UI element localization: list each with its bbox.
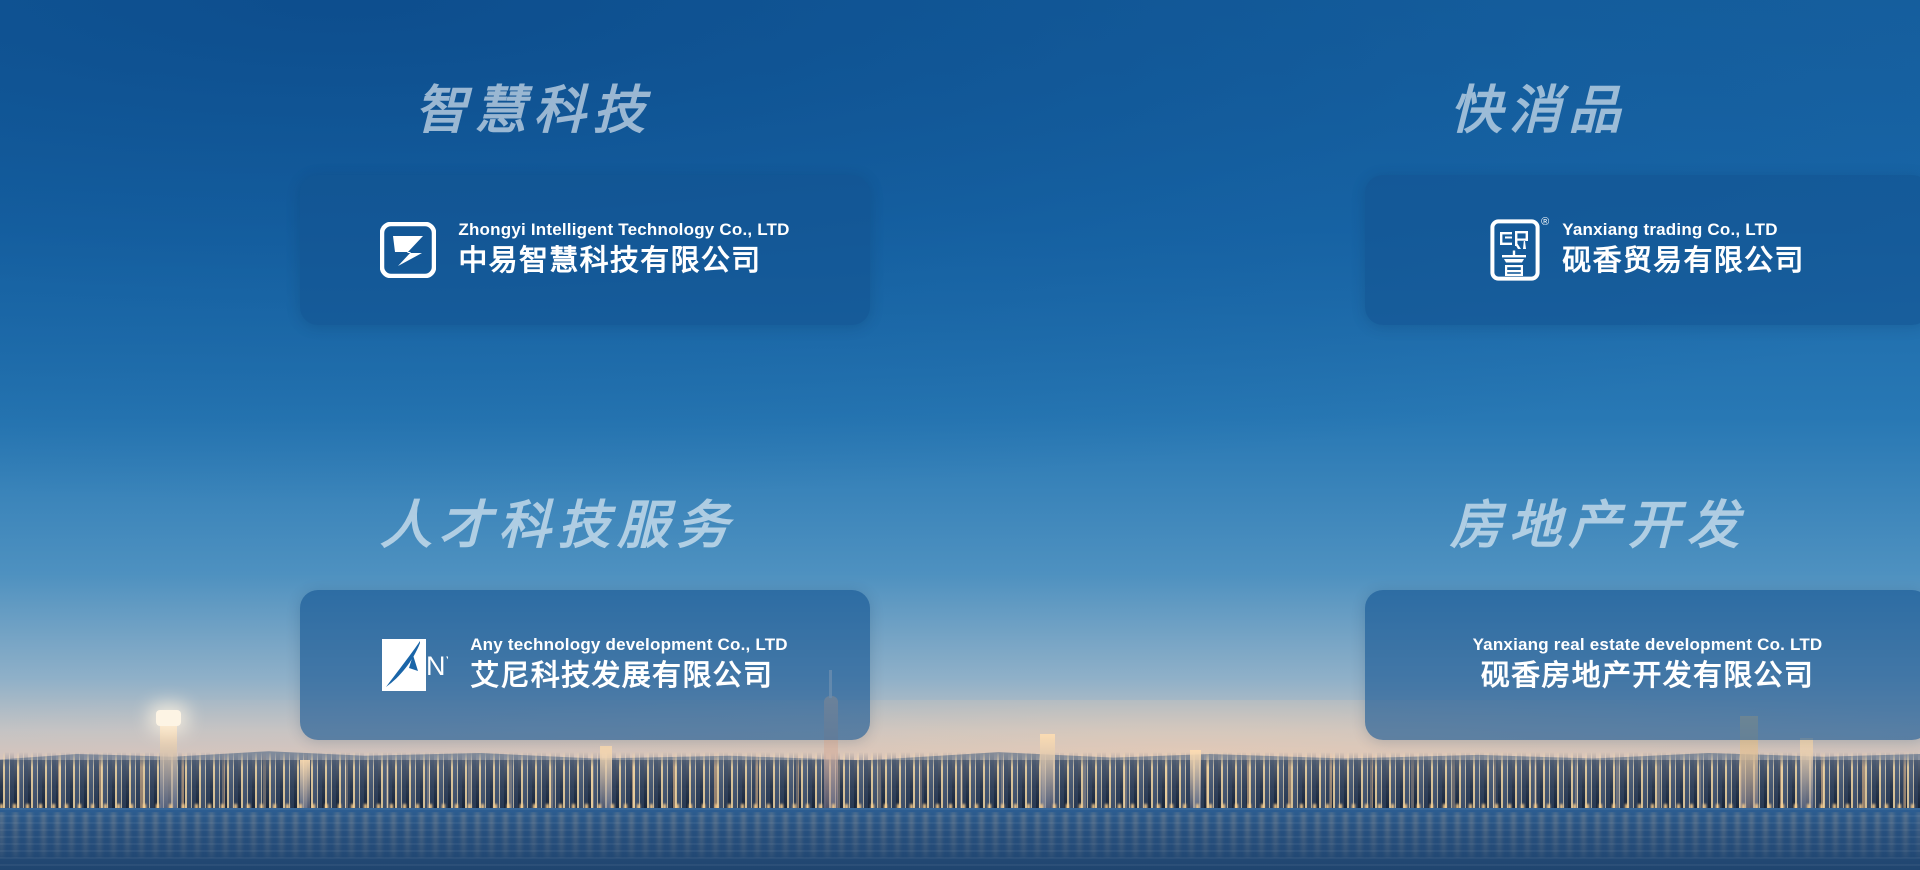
segment-title: 人才科技服务: [380, 500, 736, 552]
business-segments-panel: 智慧科技 Zhongyi Intelligent Technology Co.,…: [0, 0, 1920, 870]
company-name-cn: 中易智慧科技有限公司: [458, 242, 789, 280]
segment-grid: 智慧科技 Zhongyi Intelligent Technology Co.,…: [0, 0, 1920, 870]
yanxiang-seal-logo: ®: [1490, 219, 1540, 281]
company-card-yanxiang-real-estate[interactable]: Yanxiang real estate development Co. LTD…: [1365, 590, 1920, 740]
registered-trademark-icon: ®: [1541, 217, 1549, 228]
company-name-en: Yanxiang real estate development Co. LTD: [1473, 634, 1823, 657]
company-card-any[interactable]: NY Any technology development Co., LTD 艾…: [300, 590, 870, 740]
any-logo-text: NY: [426, 651, 448, 681]
zhongyi-seal-logo: [380, 222, 436, 278]
segment-title: 房地产开发: [1450, 500, 1746, 552]
company-name-en: Zhongyi Intelligent Technology Co., LTD: [458, 219, 789, 242]
company-card-yanxiang-trading[interactable]: ® Yanxiang trading Co., LTD 砚香贸易有限公司: [1365, 175, 1920, 325]
company-name-cn: 砚香贸易有限公司: [1562, 242, 1804, 280]
company-name-en: Any technology development Co., LTD: [470, 634, 788, 657]
segment-talent-technology-services: 人才科技服务 NY Any technology deve: [0, 435, 960, 870]
any-square-logo: NY: [382, 637, 448, 693]
segment-smart-technology: 智慧科技 Zhongyi Intelligent Technology Co.,…: [0, 0, 960, 435]
company-name-cn: 砚香房地产开发有限公司: [1481, 657, 1814, 695]
segment-real-estate-development: 房地产开发 Yanxiang real estate development C…: [960, 435, 1920, 870]
company-name-en: Yanxiang trading Co., LTD: [1562, 219, 1804, 242]
company-name-cn: 艾尼科技发展有限公司: [470, 657, 788, 695]
segment-title: 快消品: [1450, 85, 1628, 137]
company-card-zhongyi[interactable]: Zhongyi Intelligent Technology Co., LTD …: [300, 175, 870, 325]
segment-fmcg: 快消品: [960, 0, 1920, 435]
segment-title: 智慧科技: [415, 85, 652, 137]
